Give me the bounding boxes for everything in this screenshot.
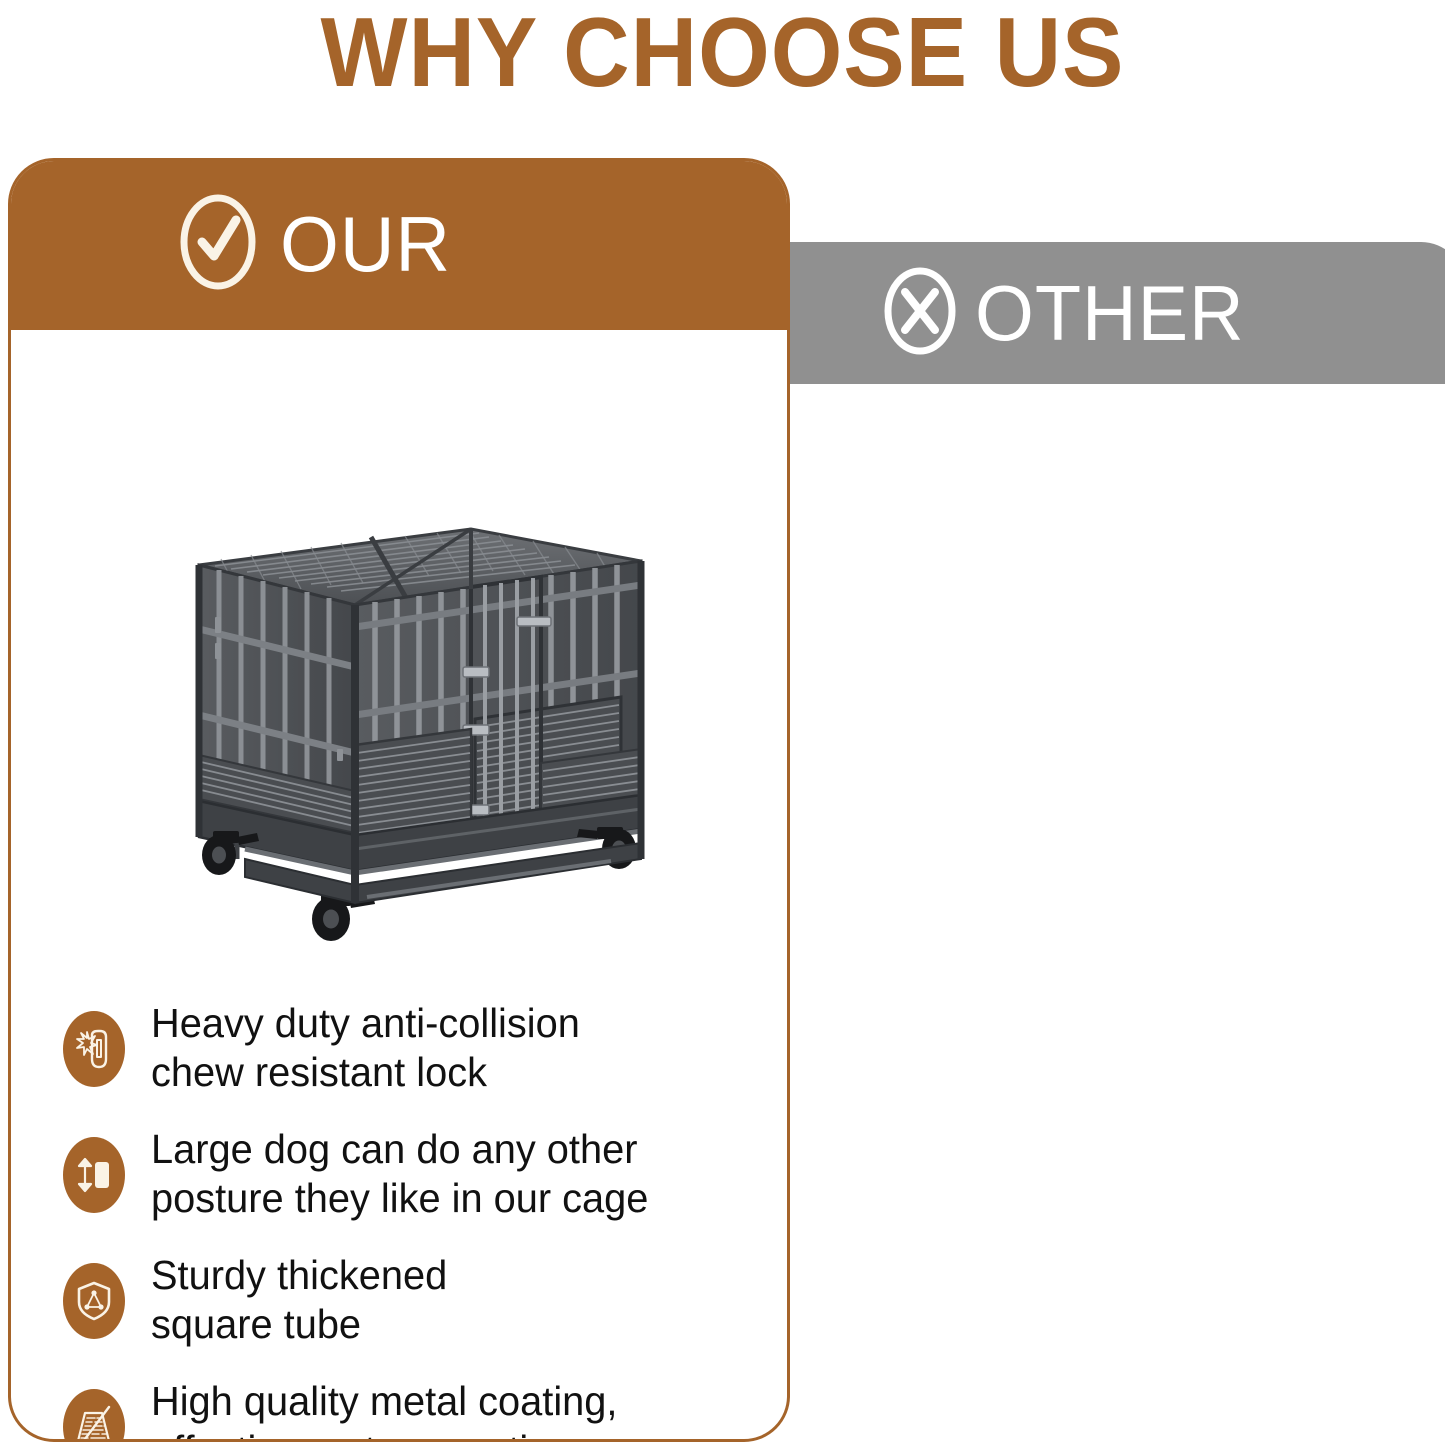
check-circle-icon — [176, 190, 260, 299]
feature-line: effective rust prevention — [151, 1426, 617, 1442]
vertical-space-arrows-icon — [63, 1137, 125, 1213]
feature-row: Heavy duty anti-collision chew resistant… — [63, 999, 763, 1097]
feature-text: Heavy duty anti-collision chew resistant… — [151, 999, 580, 1097]
feature-line: posture they like in our cage — [151, 1174, 648, 1223]
feature-line: High quality metal coating, — [151, 1377, 617, 1426]
our-feature-list: Heavy duty anti-collision chew resistant… — [63, 999, 763, 1442]
feature-line: Heavy duty anti-collision — [151, 999, 580, 1048]
feature-text: Sturdy thickened square tube — [151, 1251, 447, 1349]
feature-line: Sturdy thickened — [151, 1251, 447, 1300]
feature-line: Large dog can do any other — [151, 1125, 648, 1174]
heavy-duty-metal-dog-crate-image — [141, 519, 671, 959]
page-title: WHY CHOOSE US — [43, 2, 1401, 102]
no-rust-coating-icon — [63, 1389, 125, 1442]
our-panel: OUR — [8, 158, 790, 1442]
feature-text: Large dog can do any other posture they … — [151, 1125, 648, 1223]
our-panel-label: OUR — [280, 204, 451, 284]
our-panel-header: OUR — [8, 158, 790, 330]
feature-text: High quality metal coating, effective ru… — [151, 1377, 617, 1442]
shield-molecule-icon — [63, 1263, 125, 1339]
feature-row: Sturdy thickened square tube — [63, 1251, 763, 1349]
other-panel: OTHER — [785, 242, 1445, 1450]
feature-row: Large dog can do any other posture they … — [63, 1125, 763, 1223]
feature-row: High quality metal coating, effective ru… — [63, 1377, 763, 1442]
other-panel-header: OTHER — [785, 242, 1445, 384]
feature-line: square tube — [151, 1300, 447, 1349]
impact-lock-icon — [63, 1011, 125, 1087]
feature-line: chew resistant lock — [151, 1048, 580, 1097]
infographic-root: WHY CHOOSE US OTHER — [0, 0, 1445, 1450]
x-circle-icon — [881, 264, 959, 363]
other-panel-label: OTHER — [975, 273, 1245, 353]
